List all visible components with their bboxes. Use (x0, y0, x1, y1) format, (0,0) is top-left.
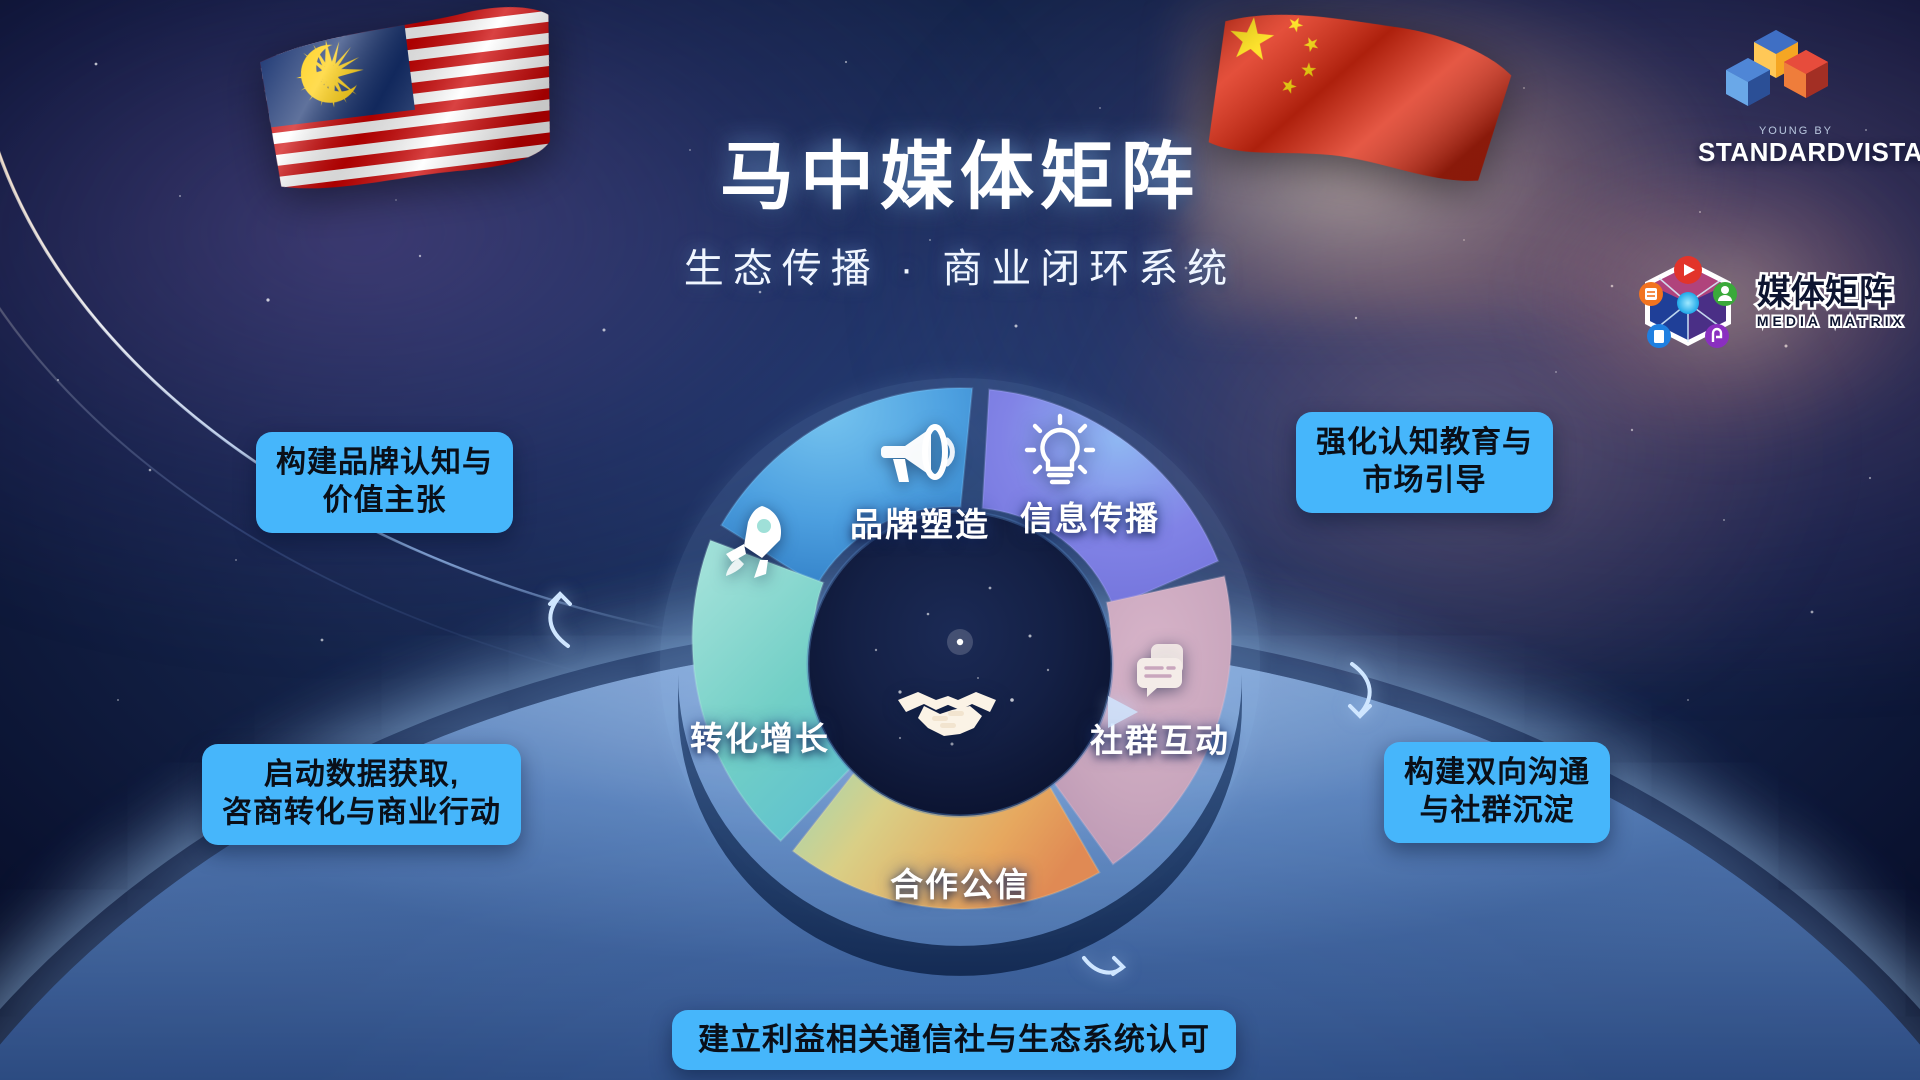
callout-cognition-line-2: 市场引导 (1316, 462, 1533, 500)
callout-brand-line-2: 价值主张 (276, 482, 493, 520)
media-matrix-network-icon (1629, 252, 1747, 352)
callout-data-action[interactable]: 启动数据获取, 咨商转化与商业行动 (202, 744, 521, 845)
media-matrix-logo[interactable]: 媒体矩阵 MEDIA MATRIX (1629, 252, 1906, 352)
callout-brand-line-1: 构建品牌认知与 (276, 444, 493, 482)
infographic-canvas: 马中媒体矩阵 生态传播 · 商业闭环系统 Y (0, 0, 1920, 1080)
page-title: 马中媒体矩阵 (0, 140, 1920, 214)
callout-ecosystem-line-1: 建立利益相关通信社与生态系统认可 (698, 1020, 1210, 1060)
standardvista-cube-icon (1698, 24, 1894, 128)
callout-dialogue-line-2: 与社群沉淀 (1404, 792, 1590, 830)
callout-dialogue[interactable]: 构建双向沟通 与社群沉淀 (1384, 742, 1610, 843)
media-matrix-wheel: 品牌塑造 信息传播 社群互动 合作公信 转化增长 (560, 392, 1360, 952)
media-matrix-name-cn: 媒体矩阵 (1757, 276, 1906, 310)
standardvista-tagline: YOUNG BY (1698, 125, 1894, 137)
callout-data-line-1: 启动数据获取, (222, 756, 501, 794)
callout-ecosystem[interactable]: 建立利益相关通信社与生态系统认可 (672, 1010, 1236, 1070)
media-matrix-name-en: MEDIA MATRIX (1757, 314, 1906, 328)
callout-cognition[interactable]: 强化认知教育与 市场引导 (1296, 412, 1553, 513)
standardvista-logo[interactable]: YOUNG BY STANDARDVISTA (1698, 24, 1894, 168)
callout-brand[interactable]: 构建品牌认知与 价值主张 (256, 432, 513, 533)
callout-cognition-line-1: 强化认知教育与 (1316, 424, 1533, 462)
callout-dialogue-line-1: 构建双向沟通 (1404, 754, 1590, 792)
standardvista-wordmark: STANDARDVISTA (1698, 137, 1894, 168)
callout-data-line-2: 咨商转化与商业行动 (222, 794, 501, 832)
